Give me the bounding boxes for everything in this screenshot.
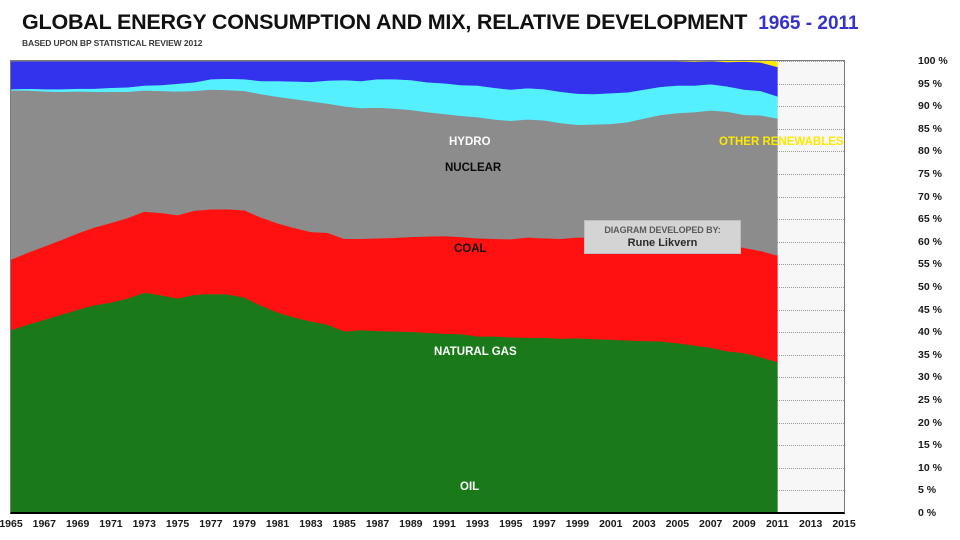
watermark-credit: DIAGRAM DEVELOPED BY: Rune Likvern <box>584 220 741 254</box>
y-axis-tick: 20 % <box>918 417 958 429</box>
y-axis-tick: 90 % <box>918 100 958 112</box>
y-axis-tick: 75 % <box>918 168 958 180</box>
x-axis-tick: 1993 <box>466 518 489 530</box>
plot-area: OIL NATURAL GAS COAL NUCLEAR HYDRO OTHER… <box>10 60 845 514</box>
x-axis-tick: 2003 <box>632 518 655 530</box>
y-axis-tick: 35 % <box>918 349 958 361</box>
watermark-line-2: Rune Likvern <box>628 237 698 249</box>
x-axis-tick: 2015 <box>832 518 855 530</box>
y-axis-tick: 30 % <box>918 371 958 383</box>
y-axis-tick: 55 % <box>918 258 958 270</box>
x-axis-tick: 2005 <box>666 518 689 530</box>
x-axis-tick: 1969 <box>66 518 89 530</box>
x-axis-tick: 1997 <box>532 518 555 530</box>
y-axis-tick: 60 % <box>918 236 958 248</box>
y-axis-tick: 40 % <box>918 326 958 338</box>
x-axis-tick: 2007 <box>699 518 722 530</box>
chart-header: GLOBAL ENERGY CONSUMPTION AND MIX, RELAT… <box>22 10 942 48</box>
chart-subtitle: BASED UPON BP STATISTICAL REVIEW 2012 <box>22 38 942 48</box>
title-year-range: 1965 - 2011 <box>758 13 858 35</box>
x-axis-tick: 2011 <box>766 518 789 530</box>
x-axis-tick: 2013 <box>799 518 822 530</box>
x-axis-tick: 2009 <box>732 518 755 530</box>
watermark-line-1: DIAGRAM DEVELOPED BY: <box>604 225 720 235</box>
title-row: GLOBAL ENERGY CONSUMPTION AND MIX, RELAT… <box>22 10 942 35</box>
y-axis-tick: 10 % <box>918 462 958 474</box>
y-axis-tick: 25 % <box>918 394 958 406</box>
x-axis-tick: 1973 <box>133 518 156 530</box>
x-axis-tick: 1987 <box>366 518 389 530</box>
x-axis-tick: 1995 <box>499 518 522 530</box>
x-axis-tick: 1965 <box>0 518 23 530</box>
y-axis-tick: 65 % <box>918 213 958 225</box>
y-axis-tick: 45 % <box>918 304 958 316</box>
x-axis-tick: 1979 <box>233 518 256 530</box>
x-axis-tick: 1971 <box>99 518 122 530</box>
x-axis-tick: 1975 <box>166 518 189 530</box>
x-axis-tick: 2001 <box>599 518 622 530</box>
page-title: GLOBAL ENERGY CONSUMPTION AND MIX, RELAT… <box>22 10 747 35</box>
y-axis-tick: 5 % <box>918 484 958 496</box>
y-axis-tick: 80 % <box>918 145 958 157</box>
x-axis-tick: 1989 <box>399 518 422 530</box>
x-axis-tick: 1985 <box>333 518 356 530</box>
x-axis-tick: 1991 <box>432 518 455 530</box>
x-axis-tick: 1983 <box>299 518 322 530</box>
y-axis-tick: 100 % <box>918 55 958 67</box>
plot-inner <box>11 61 844 512</box>
y-axis: 0 %5 %10 %15 %20 %25 %30 %35 %40 %45 %50… <box>918 55 960 521</box>
x-axis-tick: 1967 <box>33 518 56 530</box>
x-axis-tick: 1981 <box>266 518 289 530</box>
y-axis-tick: 85 % <box>918 123 958 135</box>
x-axis-tick: 1977 <box>199 518 222 530</box>
stacked-area-chart <box>11 61 844 512</box>
x-axis: 1965196719691971197319751977197919811983… <box>0 518 960 538</box>
y-axis-tick: 15 % <box>918 439 958 451</box>
y-axis-tick: 70 % <box>918 191 958 203</box>
chart-page: GLOBAL ENERGY CONSUMPTION AND MIX, RELAT… <box>0 0 960 540</box>
x-axis-tick: 1999 <box>566 518 589 530</box>
y-axis-tick: 50 % <box>918 281 958 293</box>
y-axis-tick: 95 % <box>918 78 958 90</box>
